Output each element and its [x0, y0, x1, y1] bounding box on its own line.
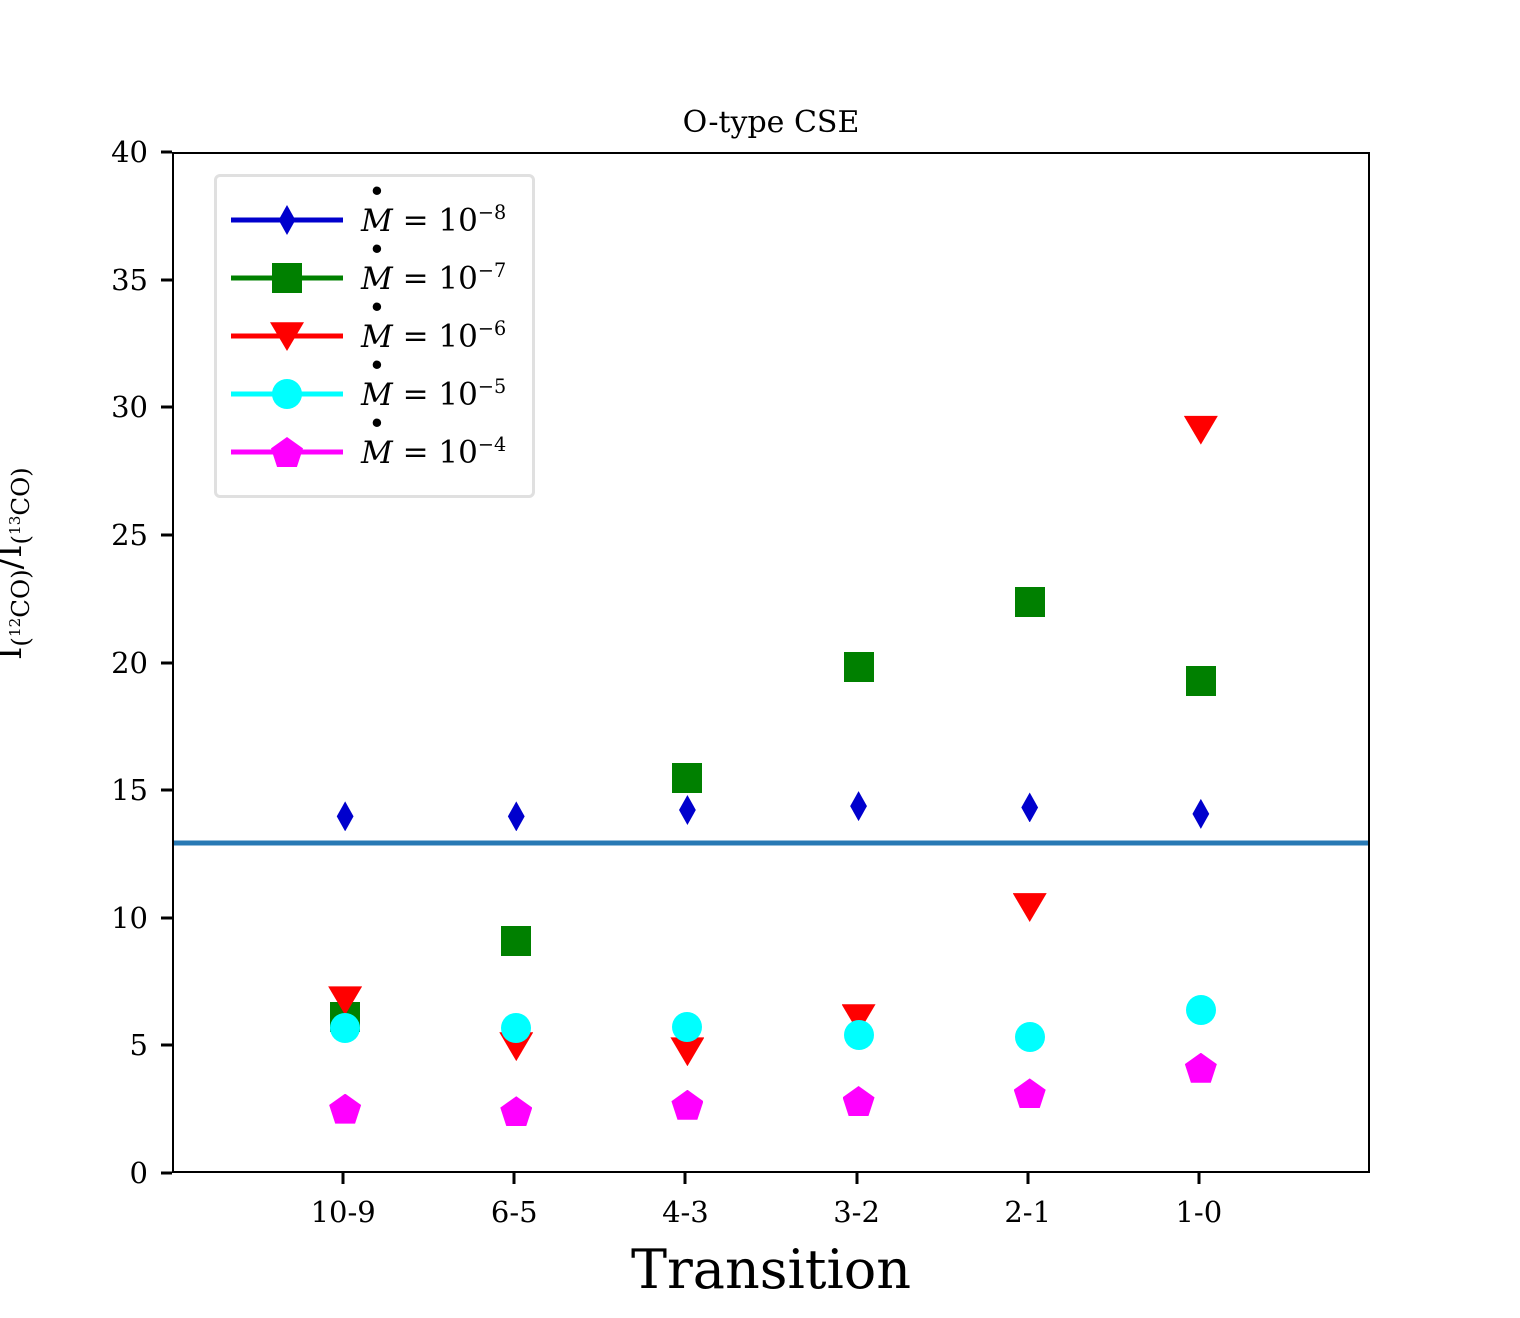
data-point-diamond: [1186, 799, 1216, 829]
y-tick-mark: [161, 916, 172, 919]
data-point-circle: [501, 1013, 531, 1043]
data-point-circle: [672, 1012, 702, 1042]
x-tick-label: 4-3: [605, 1195, 765, 1229]
data-point-diamond: [1015, 792, 1045, 822]
figure-canvas: O-type CSE I(12CO)/I(13CO) 0510152025303…: [0, 0, 1520, 1318]
legend-sample: [231, 258, 343, 298]
y-tick-mark: [161, 1044, 172, 1047]
data-point-diamond: [844, 791, 874, 821]
x-tick-mark: [1026, 1173, 1029, 1184]
data-point-circle: [1015, 1022, 1045, 1052]
y-tick-label: 0: [0, 1156, 148, 1190]
y-tick-label: 35: [0, 263, 148, 297]
plot-area: M = 10−8M = 10−7M = 10−6M = 10−5M = 10−4: [172, 152, 1370, 1173]
y-tick-label: 10: [0, 901, 148, 935]
data-point-pentagon: [843, 1086, 875, 1116]
data-point-square: [1015, 587, 1045, 617]
legend-sample: [231, 200, 343, 240]
y-tick-mark: [161, 278, 172, 281]
data-point-square: [501, 926, 531, 956]
legend-marker-pentagon: [271, 437, 303, 467]
data-point-pentagon: [1185, 1053, 1217, 1083]
legend-sample: [231, 316, 343, 356]
x-tick-mark: [684, 1173, 687, 1184]
y-tick-label: 15: [0, 773, 148, 807]
y-tick-label: 40: [0, 135, 148, 169]
y-tick-label: 5: [0, 1028, 148, 1062]
data-point-circle: [844, 1020, 874, 1050]
chart-title: O-type CSE: [172, 105, 1370, 140]
x-tick-label: 2-1: [948, 1195, 1108, 1229]
data-point-square: [844, 652, 874, 682]
legend-marker-circle: [272, 379, 302, 409]
legend-sample: [231, 374, 343, 414]
x-axis-label: Transition: [172, 1238, 1370, 1301]
data-point-square: [672, 763, 702, 793]
y-tick-label: 25: [0, 518, 148, 552]
legend[interactable]: M = 10−8M = 10−7M = 10−6M = 10−5M = 10−4: [214, 174, 535, 498]
x-tick-label: 3-2: [777, 1195, 937, 1229]
y-tick-mark: [161, 533, 172, 536]
data-point-triangle-down: [1184, 415, 1218, 445]
x-tick-mark: [342, 1173, 345, 1184]
y-tick-label: 30: [0, 390, 148, 424]
x-tick-mark: [855, 1173, 858, 1184]
data-point-circle: [330, 1013, 360, 1043]
legend-sample: [231, 432, 343, 472]
x-tick-mark: [513, 1173, 516, 1184]
y-tick-mark: [161, 789, 172, 792]
y-axis-label-text: I(12CO)/I(13CO): [0, 467, 30, 660]
x-tick-label: 6-5: [434, 1195, 594, 1229]
y-tick-mark: [161, 661, 172, 664]
data-point-pentagon: [329, 1094, 361, 1124]
data-point-pentagon: [500, 1096, 532, 1126]
data-point-triangle-down: [1013, 892, 1047, 922]
reference-line: [174, 841, 1368, 846]
x-tick-label: 1-0: [1119, 1195, 1279, 1229]
data-point-diamond: [330, 801, 360, 831]
data-point-pentagon: [1014, 1078, 1046, 1108]
y-tick-mark: [161, 1172, 172, 1175]
data-point-circle: [1186, 995, 1216, 1025]
y-tick-mark: [161, 151, 172, 154]
y-tick-mark: [161, 406, 172, 409]
data-point-diamond: [672, 795, 702, 825]
y-tick-label: 20: [0, 646, 148, 680]
legend-marker-square: [272, 263, 302, 293]
data-point-square: [1186, 666, 1216, 696]
x-tick-mark: [1197, 1173, 1200, 1184]
data-point-diamond: [501, 801, 531, 831]
y-axis-label: I(12CO)/I(13CO): [0, 467, 35, 660]
legend-item-5[interactable]: M = 10−4: [231, 423, 506, 481]
x-tick-label: 10-9: [263, 1195, 423, 1229]
legend-label: M = 10−4: [361, 433, 506, 470]
data-point-pentagon: [671, 1090, 703, 1120]
